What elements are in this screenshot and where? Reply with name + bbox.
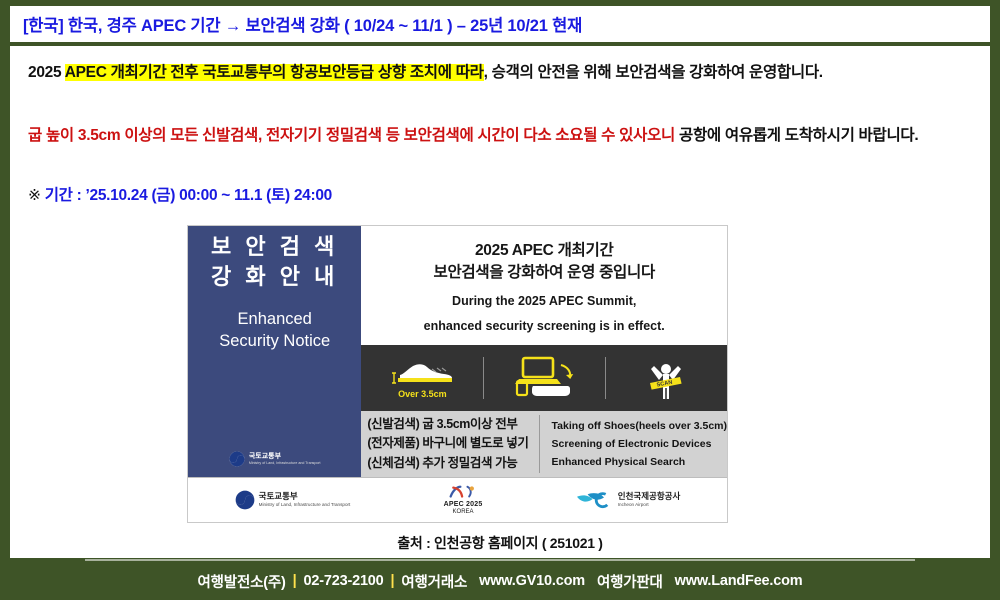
page-title: [한국] 한국, 경주 APEC 기간 → 보안검색 강화 ( 10/24 ~ … bbox=[10, 12, 582, 36]
molit-logo-kr-navy: 국토교통부 bbox=[249, 453, 321, 461]
apec-logo-en: KOREA bbox=[453, 509, 474, 516]
row-en-1: Taking off Shoes(heels over 3.5cm) bbox=[552, 417, 727, 435]
p2-red-text: 굽 높이 3.5cm 이상의 모든 신발검색, 전자기기 정밀검색 등 보안검색… bbox=[28, 127, 675, 144]
poster-right-column: 2025 APEC 개최기간 보안검색을 강화하여 운영 중입니다 During… bbox=[361, 226, 727, 477]
poster-icon-strip: Over 3.5cm bbox=[361, 345, 727, 411]
poster-detail-rows: (신발검색) 굽 3.5cm이상 전부 (전자제품) 바구니에 별도로 넣기 (… bbox=[361, 411, 727, 477]
molit-logo: 국토교통부 Ministry of Land, Infrastructure a… bbox=[235, 490, 351, 510]
row-en-3: Enhanced Physical Search bbox=[552, 453, 727, 471]
poster-left-panel: 보 안 검 색 강 화 안 내 Enhanced Security Notice… bbox=[188, 226, 361, 477]
footer-url-1[interactable]: www.GV10.com bbox=[479, 573, 585, 589]
laptop-tray-icon-cell bbox=[483, 345, 605, 411]
reference-mark-icon: ※ bbox=[28, 187, 45, 204]
p3-period-text: 기간 : ’25.10.24 (금) 00:00 ~ 11.1 (토) 24:0… bbox=[45, 187, 332, 204]
molit-logo-en-navy: Ministry of Land, Infrastructure and Tra… bbox=[249, 461, 321, 465]
molit-logo-navy: 국토교통부 Ministry of Land, Infrastructure a… bbox=[229, 437, 321, 467]
poster-kr-title-1: 보 안 검 색 bbox=[211, 232, 338, 262]
poster-head-en-2: enhanced security screening is in effect… bbox=[367, 318, 721, 335]
footer-url-2[interactable]: www.LandFee.com bbox=[675, 573, 803, 589]
incheon-logo-en: Incheon Airport bbox=[618, 502, 681, 507]
shoe-caption: Over 3.5cm bbox=[398, 389, 447, 399]
footer-separator-1: | bbox=[293, 573, 297, 589]
paragraph-warning: 굽 높이 3.5cm 이상의 모든 신발검색, 전자기기 정밀검색 등 보안검색… bbox=[28, 124, 973, 148]
apec-logo-kr: APEC 2025 bbox=[444, 501, 483, 509]
shoe-icon-cell: Over 3.5cm bbox=[361, 345, 483, 411]
row-en-2: Screening of Electronic Devices bbox=[552, 435, 727, 453]
apec-logo: APEC 2025 KOREA bbox=[444, 484, 483, 515]
molit-logo-text: 국토교통부 Ministry of Land, Infrastructure a… bbox=[259, 492, 351, 507]
footer-divider bbox=[85, 559, 915, 561]
paragraph-period: ※ 기간 : ’25.10.24 (금) 00:00 ~ 11.1 (토) 24… bbox=[28, 184, 973, 208]
p1-pre-text: 2025 bbox=[28, 64, 65, 81]
footer-company: 여행발전소(주) bbox=[198, 571, 286, 592]
poster-en-title-2: Security Notice bbox=[219, 331, 330, 352]
poster-head-kr-2: 보안검색을 강화하여 운영 중입니다 bbox=[367, 262, 721, 284]
p1-highlighted-text: APEC 개최기간 전후 국토교통부의 항공보안등급 상향 조치에 따라 bbox=[65, 64, 484, 81]
poster-main: 보 안 검 색 강 화 안 내 Enhanced Security Notice… bbox=[188, 226, 727, 477]
source-caption: 출처 : 인천공항 홈페이지 ( 251021 ) bbox=[10, 533, 990, 553]
poster-headline: 2025 APEC 개최기간 보안검색을 강화하여 운영 중입니다 During… bbox=[361, 226, 727, 345]
page-frame: [한국] 한국, 경주 APEC 기간 → 보안검색 강화 ( 10/24 ~ … bbox=[0, 0, 1000, 600]
poster-en-title-1: Enhanced bbox=[238, 309, 312, 330]
paragraph-notice: 2025 APEC 개최기간 전후 국토교통부의 항공보안등급 상향 조치에 따… bbox=[28, 61, 973, 85]
incheon-logo-text: 인천국제공항공사 Incheon Airport bbox=[618, 492, 681, 507]
footer-phone[interactable]: 02-723-2100 bbox=[304, 573, 384, 589]
header-bar: [한국] 한국, 경주 APEC 기간 → 보안검색 강화 ( 10/24 ~ … bbox=[10, 6, 990, 42]
footer-separator-2: | bbox=[391, 573, 395, 589]
p2-black-text: 공항에 여유롭게 도착하시기 바랍니다. bbox=[675, 127, 918, 144]
incheon-logo-kr: 인천국제공항공사 bbox=[618, 492, 681, 502]
poster-image: 보 안 검 색 강 화 안 내 Enhanced Security Notice… bbox=[187, 225, 728, 523]
taegeuk-icon bbox=[229, 451, 245, 467]
poster-rows-en: Taking off Shoes(heels over 3.5cm) Scree… bbox=[540, 417, 727, 471]
content-sheet: 2025 APEC 개최기간 전후 국토교통부의 항공보안등급 상향 조치에 따… bbox=[10, 46, 990, 558]
molit-logo-kr: 국토교통부 bbox=[259, 492, 351, 502]
footer-brand-1: 여행거래소 bbox=[401, 571, 467, 592]
row-kr-3: (신체검색) 추가 정밀검색 가능 bbox=[367, 454, 530, 473]
incheon-airport-logo: 인천국제공항공사 Incheon Airport bbox=[576, 491, 681, 509]
poster-rows-kr: (신발검색) 굽 3.5cm이상 전부 (전자제품) 바구니에 별도로 넣기 (… bbox=[367, 415, 539, 473]
shoe-icon bbox=[386, 357, 458, 387]
row-kr-1: (신발검색) 굽 3.5cm이상 전부 bbox=[367, 415, 530, 434]
body-scan-icon: SCAN bbox=[636, 355, 696, 401]
p1-post-text: , 승객의 안전을 위해 보안검색을 강화하여 운영합니다. bbox=[484, 64, 823, 81]
taegeuk-icon bbox=[235, 490, 255, 510]
footer-brand-2: 여행가판대 bbox=[597, 571, 663, 592]
footer-bar: 여행발전소(주) | 02-723-2100 | 여행거래소 www.GV10.… bbox=[0, 562, 1000, 600]
body-scan-icon-cell: SCAN bbox=[605, 345, 727, 411]
molit-logo-en: Ministry of Land, Infrastructure and Tra… bbox=[259, 502, 351, 507]
row-kr-2: (전자제품) 바구니에 별도로 넣기 bbox=[367, 434, 530, 453]
incheon-wings-icon bbox=[576, 491, 614, 509]
poster-head-en-1: During the 2025 APEC Summit, bbox=[367, 293, 721, 310]
laptop-tray-icon bbox=[501, 355, 587, 399]
poster-logo-bar: 국토교통부 Ministry of Land, Infrastructure a… bbox=[188, 477, 727, 522]
apec-mark-icon bbox=[448, 484, 478, 501]
poster-kr-title-2: 강 화 안 내 bbox=[211, 262, 338, 292]
poster-head-kr-1: 2025 APEC 개최기간 bbox=[367, 240, 721, 262]
molit-logo-text-navy: 국토교통부 Ministry of Land, Infrastructure a… bbox=[249, 453, 321, 465]
